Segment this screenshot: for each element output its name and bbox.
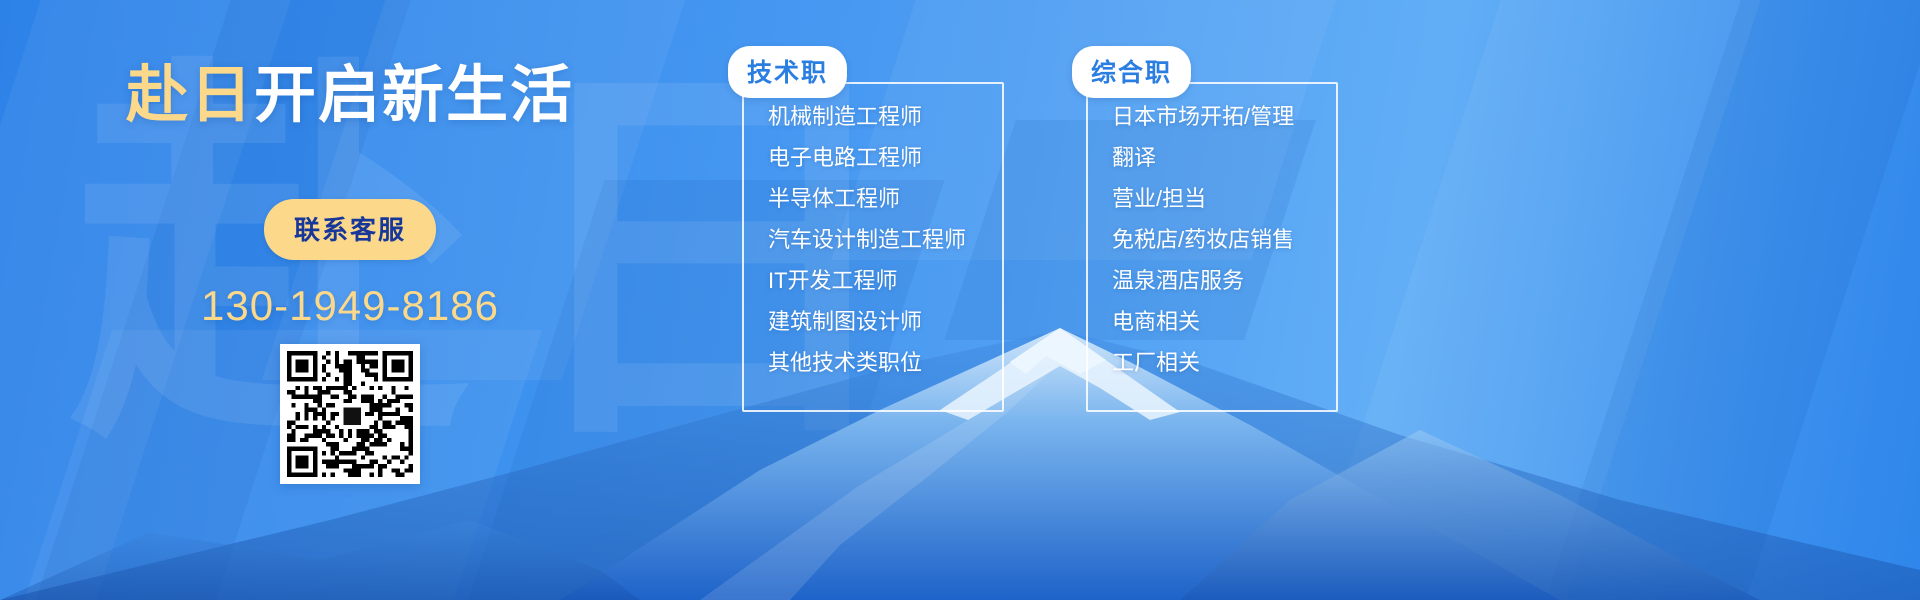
tech-jobs-panel: 技术职 机械制造工程师 电子电路工程师 半导体工程师 汽车设计制造工程师 IT开… (742, 82, 1004, 393)
title-rest: 开启新生活 (254, 61, 574, 130)
list-item[interactable]: 机械制造工程师 (768, 106, 1004, 128)
contact-support-button[interactable]: 联系客服 (264, 199, 436, 260)
list-item[interactable]: 温泉酒店服务 (1112, 270, 1338, 292)
tech-jobs-list: 机械制造工程师 电子电路工程师 半导体工程师 汽车设计制造工程师 IT开发工程师… (742, 82, 1004, 374)
left-content-column: 赴日开启新生活 联系客服 130-1949-8186 (0, 0, 700, 600)
list-item[interactable]: IT开发工程师 (768, 270, 1004, 292)
qr-code[interactable] (280, 344, 420, 484)
list-item[interactable]: 其他技术类职位 (768, 352, 1004, 374)
list-item[interactable]: 电商相关 (1112, 311, 1338, 333)
page-title: 赴日开启新生活 (0, 44, 700, 134)
list-item[interactable]: 日本市场开拓/管理 (1112, 106, 1338, 128)
title-accent: 赴日 (126, 61, 254, 130)
list-item[interactable]: 营业/担当 (1112, 188, 1338, 210)
general-jobs-panel: 综合职 日本市场开拓/管理 翻译 营业/担当 免税店/药妆店销售 温泉酒店服务 … (1086, 82, 1338, 393)
list-item[interactable]: 建筑制图设计师 (768, 311, 1004, 333)
list-item[interactable]: 半导体工程师 (768, 188, 1004, 210)
list-item[interactable]: 免税店/药妆店销售 (1112, 229, 1338, 251)
list-item[interactable]: 电子电路工程师 (768, 147, 1004, 169)
list-item[interactable]: 工厂相关 (1112, 352, 1338, 374)
decorative-band (1286, 0, 1773, 600)
general-jobs-list: 日本市场开拓/管理 翻译 营业/担当 免税店/药妆店销售 温泉酒店服务 电商相关… (1086, 82, 1338, 374)
list-item[interactable]: 翻译 (1112, 147, 1338, 169)
phone-number: 130-1949-8186 (0, 282, 700, 330)
list-item[interactable]: 汽车设计制造工程师 (768, 229, 1004, 251)
qr-code-image (287, 351, 413, 477)
decorative-band (1526, 0, 1920, 600)
promo-banner: 赴日 赴日开启新生活 (0, 0, 1920, 600)
